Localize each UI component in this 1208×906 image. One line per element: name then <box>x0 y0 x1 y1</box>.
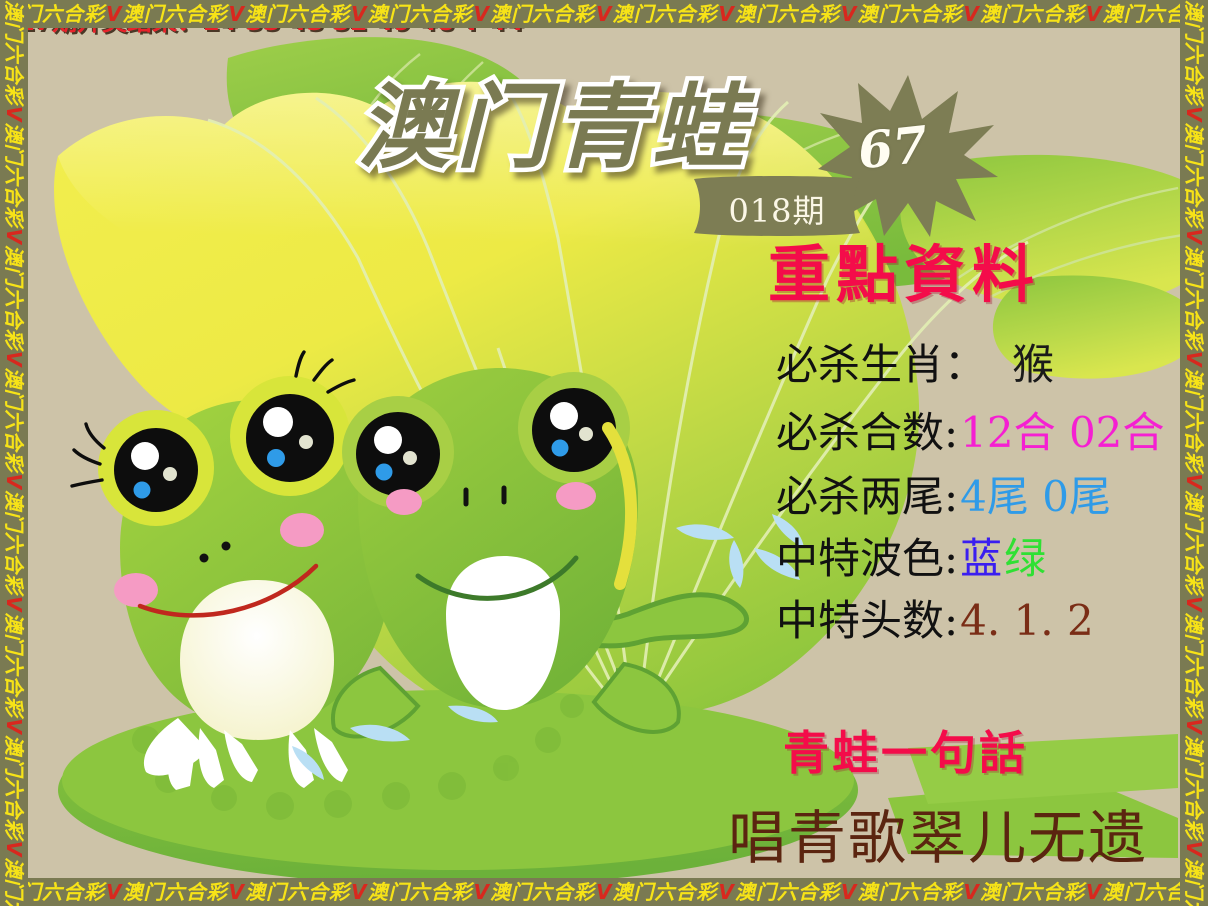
info-value-green: 绿 <box>1004 534 1046 583</box>
info-row-head-count: 中特头数:4. 1. 2 <box>776 598 1094 644</box>
page-title: 澳门青蛙 <box>358 80 750 176</box>
info-label: 必杀两尾: <box>776 472 958 521</box>
info-label: 必杀生肖： <box>776 340 986 389</box>
poster-canvas: 67 澳门青蛙 018期 重點資料 必杀生肖：猴 必杀合数:12合 02合 必杀… <box>28 28 1180 878</box>
issue-number: 018期 <box>686 186 868 232</box>
border-strip-left: 澳门六合彩V澳门六合彩V澳门六合彩V澳门六合彩V澳门六合彩V澳门六合彩V澳门六合… <box>2 0 26 906</box>
border-strip-right: 澳门六合彩V澳门六合彩V澳门六合彩V澳门六合彩V澳门六合彩V澳门六合彩V澳门六合… <box>1182 0 1206 906</box>
info-value: 4尾 0尾 <box>960 472 1111 521</box>
info-value: 猴 <box>1012 340 1054 389</box>
star-number: 67 <box>855 115 930 181</box>
border-strip-bottom: 澳门六合彩V澳门六合彩V澳门六合彩V澳门六合彩V澳门六合彩V澳门六合彩V澳门六合… <box>0 880 1208 904</box>
info-row-wave-color: 中特波色:蓝绿 <box>776 536 1046 582</box>
info-label: 必杀合数: <box>776 408 958 457</box>
border-bottom: 澳门六合彩V澳门六合彩V澳门六合彩V澳门六合彩V澳门六合彩V澳门六合彩V澳门六合… <box>0 878 1208 906</box>
info-value: 12合 02合 <box>960 408 1164 457</box>
info-value-blue: 蓝 <box>960 534 1002 583</box>
info-label: 中特波色: <box>776 534 958 583</box>
info-row-tails: 必杀两尾:4尾 0尾 <box>776 474 1111 520</box>
info-row-zodiac: 必杀生肖：猴 <box>776 342 1054 388</box>
info-value: 4. 1. 2 <box>960 596 1094 645</box>
phrase-body: 唱青歌翠儿无遗 <box>728 806 1148 870</box>
lottery-poster: 67 澳门青蛙 018期 重點資料 必杀生肖：猴 必杀合数:12合 02合 必杀… <box>0 0 1208 906</box>
border-right: 澳门六合彩V澳门六合彩V澳门六合彩V澳门六合彩V澳门六合彩V澳门六合彩V澳门六合… <box>1180 0 1208 906</box>
info-row-sum: 必杀合数:12合 02合 <box>776 410 1164 456</box>
border-strip-top: 澳门六合彩V澳门六合彩V澳门六合彩V澳门六合彩V澳门六合彩V澳门六合彩V澳门六合… <box>0 2 1208 26</box>
section-heading-key-info: 重點資料 <box>768 242 1040 308</box>
border-left: 澳门六合彩V澳门六合彩V澳门六合彩V澳门六合彩V澳门六合彩V澳门六合彩V澳门六合… <box>0 0 28 906</box>
info-label: 中特头数: <box>776 596 958 645</box>
phrase-heading: 青蛙一句話 <box>783 728 1028 778</box>
border-top: 澳门六合彩V澳门六合彩V澳门六合彩V澳门六合彩V澳门六合彩V澳门六合彩V澳门六合… <box>0 0 1208 28</box>
